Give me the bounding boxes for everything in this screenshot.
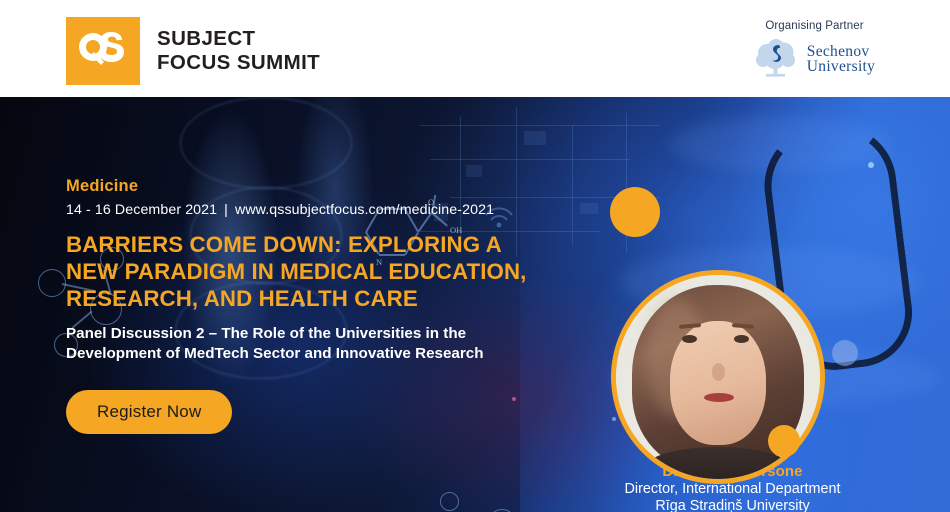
header-bar: Subject Focus Summit Organising Partner (0, 0, 950, 97)
hero-copy: Medicine 14 - 16 December 2021|www.qssub… (66, 177, 586, 434)
speaker-role: Director, International Department (560, 481, 905, 497)
sechenov-line2: University (807, 59, 875, 74)
page-title: Barriers come down: Exploring a new para… (66, 231, 586, 312)
meta-separator: | (217, 202, 235, 218)
headline-line-3: research, and health care (66, 285, 586, 312)
event-website[interactable]: www.qssubjectfocus.com/medicine-2021 (235, 202, 494, 218)
sechenov-wordmark: Sechenov University (807, 44, 875, 74)
event-dates: 14 - 16 December 2021 (66, 202, 217, 218)
sechenov-logo[interactable]: Sechenov University (707, 39, 922, 79)
organising-partner: Organising Partner (707, 20, 922, 79)
register-now-button[interactable]: Register Now (66, 390, 232, 434)
sechenov-line1: Sechenov (807, 44, 875, 59)
sechenov-tree-icon (754, 39, 798, 79)
headline-line-2: new paradigm in medical education, (66, 258, 586, 285)
headline-line-1: Barriers come down: Exploring a (66, 231, 586, 258)
subject-eyebrow: Medicine (66, 177, 586, 196)
qs-logo-mark-icon (66, 17, 140, 85)
event-banner: Subject Focus Summit Organising Partner (0, 0, 950, 512)
qs-logo-wordmark: Subject Focus Summit (157, 27, 320, 75)
qs-logo[interactable]: Subject Focus Summit (66, 17, 320, 85)
hero-background: O OH N (0, 97, 950, 512)
subtitle-line-1: Panel Discussion 2 – The Role of the Uni… (66, 324, 586, 344)
subtitle-line-2: Development of MedTech Sector and Innova… (66, 344, 586, 364)
qs-logo-line1: Subject (157, 27, 320, 51)
organising-partner-label: Organising Partner (707, 20, 922, 32)
speaker-card: Dr Baiba Pētersone Director, Internation… (560, 157, 905, 512)
speaker-photo-zone (560, 157, 905, 457)
session-subtitle: Panel Discussion 2 – The Role of the Uni… (66, 324, 586, 364)
orange-accent-circle-large (610, 187, 660, 237)
event-meta: 14 - 16 December 2021|www.qssubjectfocus… (66, 202, 586, 218)
orange-accent-circle-small (768, 425, 800, 457)
qs-logo-line2: Focus Summit (157, 51, 320, 75)
speaker-organisation: Rīga Stradiņš University (560, 498, 905, 512)
